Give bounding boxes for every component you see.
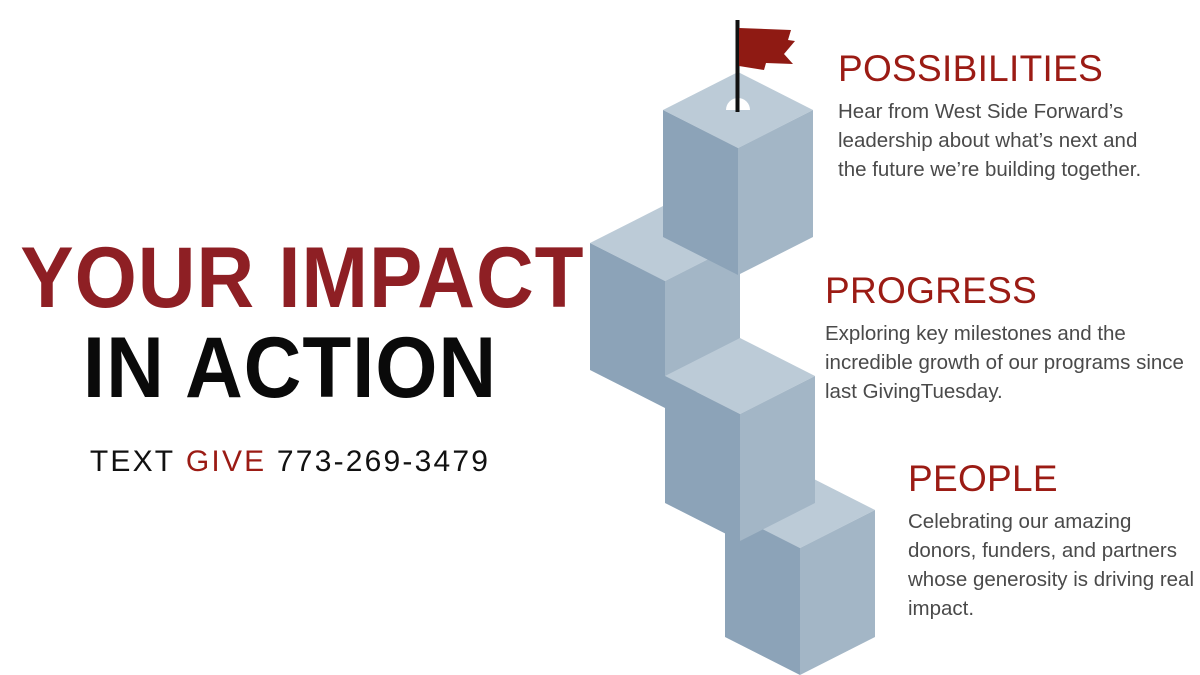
section-body-progress: Exploring key milestones and the incredi… bbox=[825, 319, 1185, 406]
section-heading-possibilities: POSSIBILITIES bbox=[838, 50, 1168, 87]
headline-line-1: YOUR IMPACT bbox=[20, 236, 559, 320]
cta-keyword: GIVE bbox=[186, 445, 267, 478]
headline-block: YOUR IMPACT IN ACTION TEXT GIVE 773-269-… bbox=[0, 236, 580, 479]
section-heading-progress: PROGRESS bbox=[825, 272, 1185, 309]
cube-3 bbox=[665, 338, 815, 541]
cta-phone-number: 773-269-3479 bbox=[277, 445, 490, 478]
flag-pole-icon bbox=[736, 20, 740, 112]
section-heading-people: PEOPLE bbox=[908, 460, 1198, 497]
section-body-people: Celebrating our amazing donors, funders,… bbox=[908, 507, 1198, 623]
flag-banner-icon bbox=[739, 28, 795, 70]
headline-line-2: IN ACTION bbox=[20, 326, 559, 410]
section-progress: PROGRESS Exploring key milestones and th… bbox=[825, 272, 1185, 406]
poster-canvas: YOUR IMPACT IN ACTION TEXT GIVE 773-269-… bbox=[0, 0, 1200, 675]
section-body-possibilities: Hear from West Side Forward’s leadership… bbox=[838, 97, 1168, 184]
section-people: PEOPLE Celebrating our amazing donors, f… bbox=[908, 460, 1198, 623]
section-possibilities: POSSIBILITIES Hear from West Side Forwar… bbox=[838, 50, 1168, 184]
text-give-cta: TEXT GIVE 773-269-3479 bbox=[0, 445, 580, 479]
cta-prefix: TEXT bbox=[90, 445, 175, 478]
